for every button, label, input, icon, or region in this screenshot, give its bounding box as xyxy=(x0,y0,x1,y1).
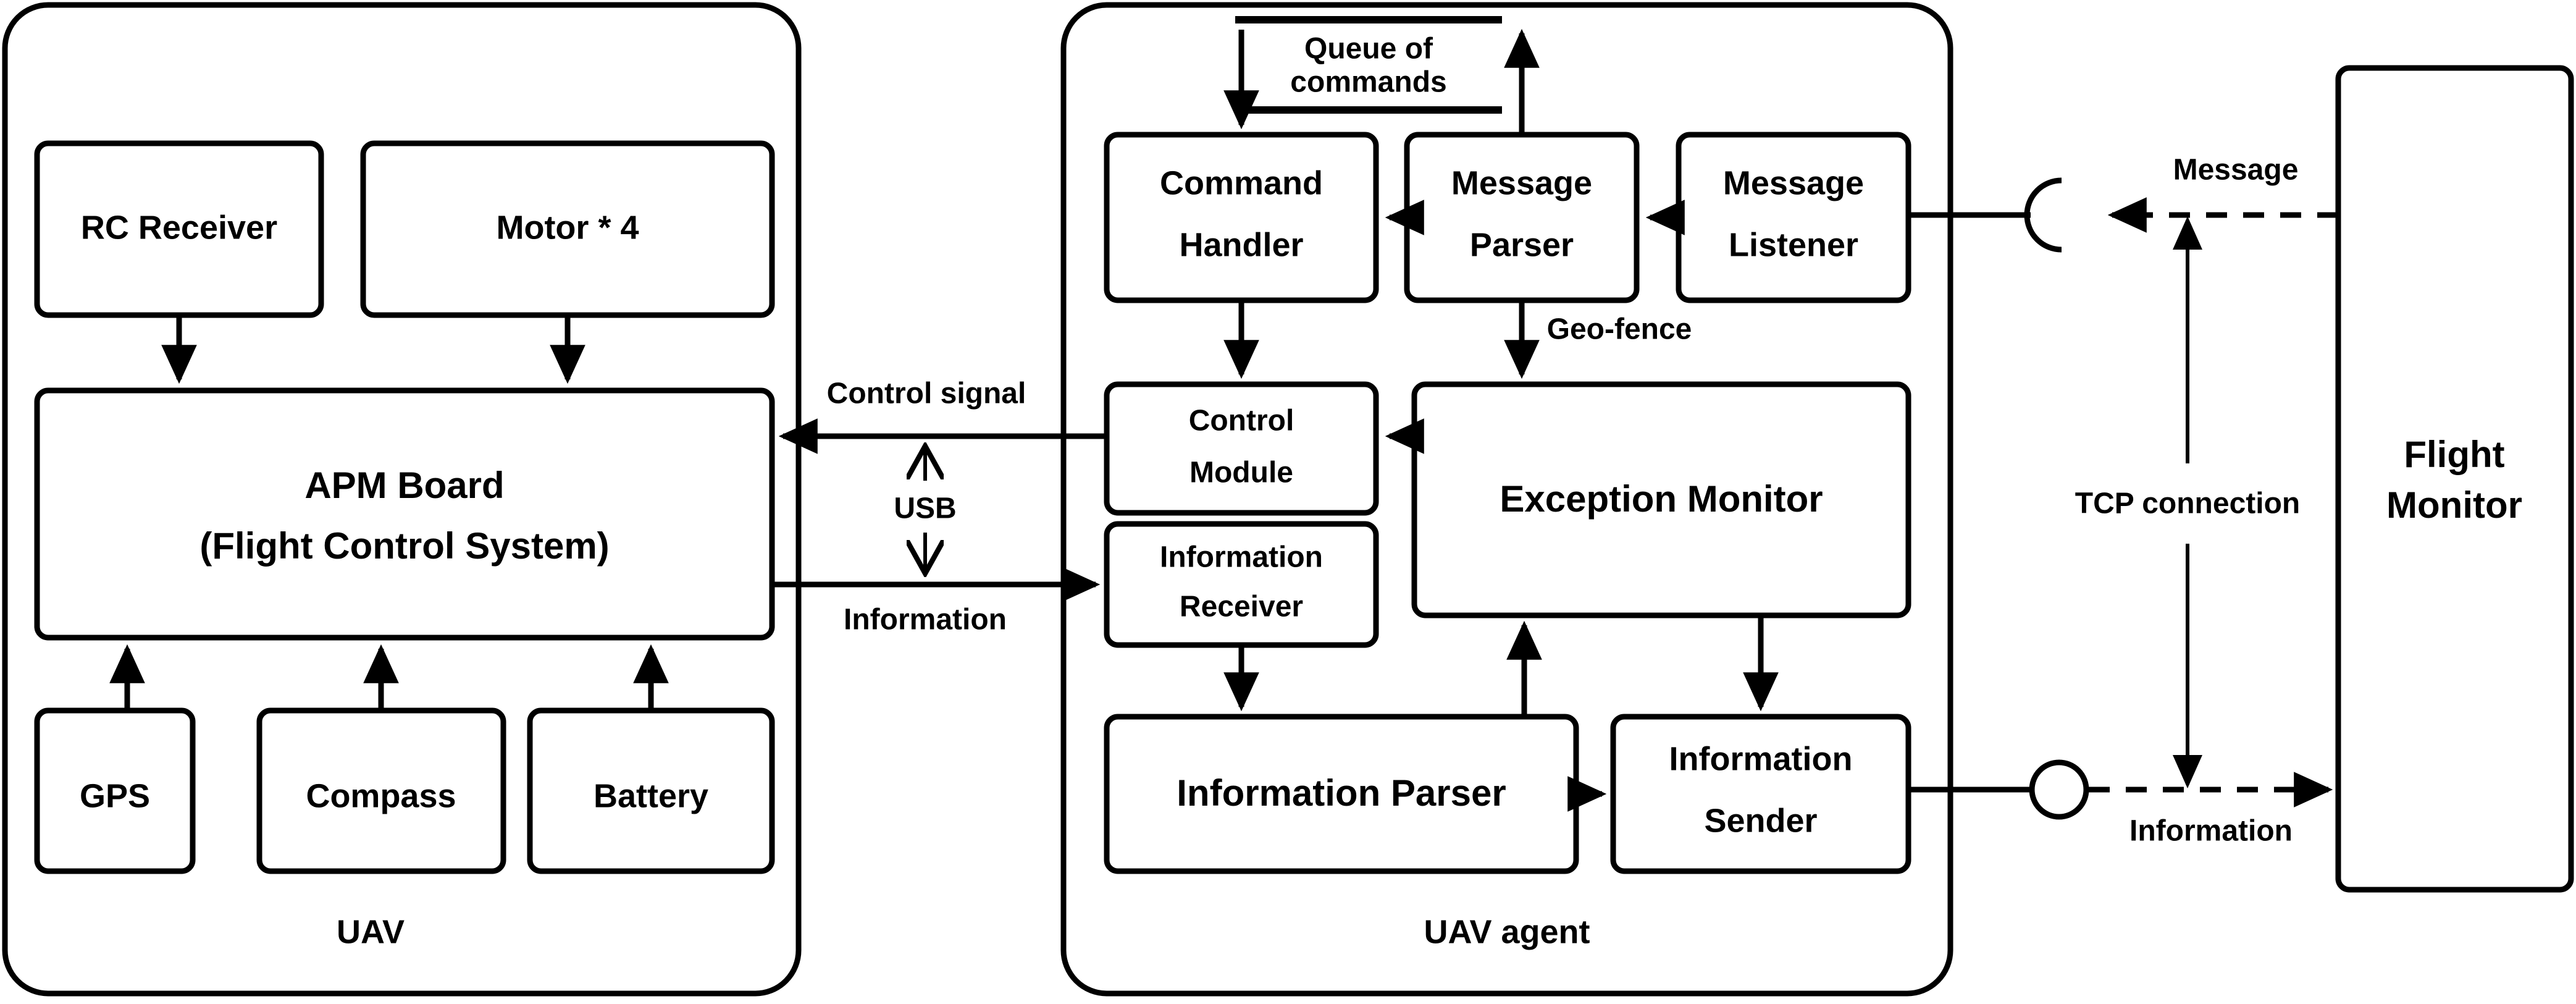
edge-label-tcp-connection: TCP connection xyxy=(2075,487,2300,520)
diagram-canvas: UAV RC Receiver Motor * 4 APM Board (Fli… xyxy=(0,0,2576,1004)
node-control-module-label-line1: Control xyxy=(1189,405,1294,437)
edge-label-geo-fence: Geo-fence xyxy=(1547,313,1692,346)
node-message-listener-label-line2: Listener xyxy=(1729,226,1858,263)
node-message-listener-label-line1: Message xyxy=(1723,164,1864,201)
node-information-receiver-label-line1: Information xyxy=(1160,541,1323,574)
queue-label-line1: Queue of xyxy=(1304,33,1433,65)
edge-label-information-tcp: Information xyxy=(2129,815,2293,848)
node-flight-monitor[interactable] xyxy=(2338,68,2571,890)
node-apm-board[interactable] xyxy=(37,390,772,638)
uav-agent-container-label: UAV agent xyxy=(1424,913,1590,950)
node-information-sender-label-line2: Sender xyxy=(1704,802,1817,839)
node-apm-board-label-line2: (Flight Control System) xyxy=(199,525,609,567)
node-compass-label: Compass xyxy=(306,777,456,814)
uav-container-label: UAV xyxy=(337,913,405,950)
edge-label-control-signal: Control signal xyxy=(827,378,1026,410)
node-information-receiver-label-line2: Receiver xyxy=(1180,591,1303,623)
node-message-parser[interactable] xyxy=(1407,135,1637,300)
node-motor-label: Motor * 4 xyxy=(496,209,639,246)
edge-label-message: Message xyxy=(2173,154,2299,187)
node-command-handler-label-line1: Command xyxy=(1160,164,1323,201)
node-control-module[interactable] xyxy=(1107,384,1376,513)
node-information-parser-label: Information Parser xyxy=(1177,772,1506,814)
node-message-parser-label-line2: Parser xyxy=(1470,226,1574,263)
node-message-parser-label-line1: Message xyxy=(1451,164,1592,201)
node-rc-receiver-label: RC Receiver xyxy=(81,209,277,246)
architecture-diagram: UAV RC Receiver Motor * 4 APM Board (Fli… xyxy=(0,0,2576,1004)
node-information-sender-label-line1: Information xyxy=(1669,740,1853,777)
node-gps-label: GPS xyxy=(80,777,150,814)
information-ball-icon xyxy=(2032,762,2086,817)
edge-label-usb: USB xyxy=(894,492,956,525)
node-flight-monitor-label-line2: Monitor xyxy=(2386,484,2522,526)
node-battery-label: Battery xyxy=(594,777,708,814)
node-control-module-label-line2: Module xyxy=(1189,457,1293,489)
node-command-handler[interactable] xyxy=(1107,135,1376,300)
edge-label-information-uav: Information xyxy=(844,604,1007,636)
node-exception-monitor-label: Exception Monitor xyxy=(1500,478,1823,520)
node-command-handler-label-line2: Handler xyxy=(1179,226,1303,263)
queue-label-line2: commands xyxy=(1290,66,1446,99)
message-socket-icon xyxy=(2027,180,2062,250)
node-flight-monitor-label-line1: Flight xyxy=(2404,434,2504,475)
node-message-listener[interactable] xyxy=(1679,135,1908,300)
node-apm-board-label-line1: APM Board xyxy=(304,465,504,506)
